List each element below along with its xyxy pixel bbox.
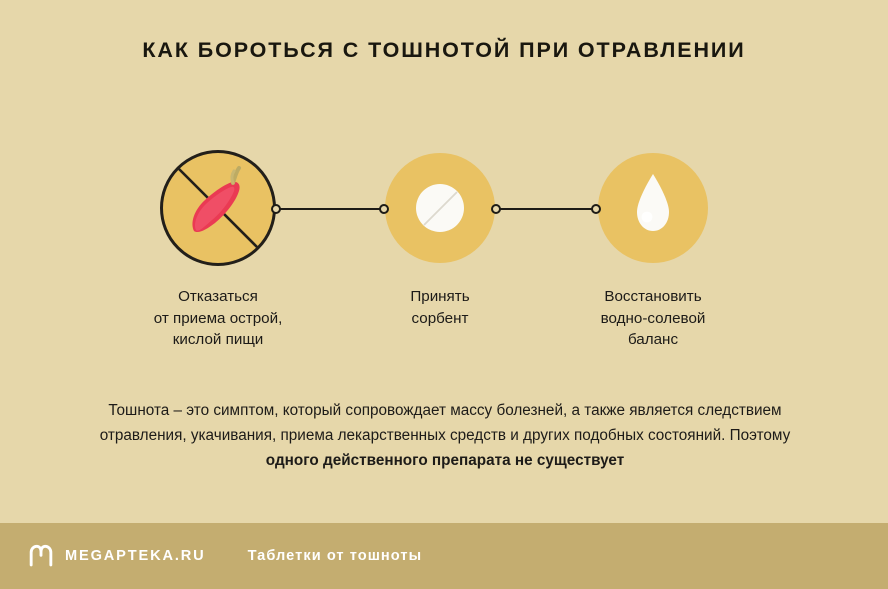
step-restore-balance: [595, 150, 711, 266]
caption-line: кислой пищи: [103, 329, 333, 351]
caption-line: от приема острой,: [103, 308, 333, 330]
connector-dot-right: [379, 204, 389, 214]
step-connector-2: [492, 204, 600, 214]
step-avoid-spicy: [160, 150, 276, 266]
connector-dot-left: [491, 204, 501, 214]
connector-line: [497, 208, 595, 210]
caption-line: баланс: [538, 329, 768, 351]
infographic-root: КАК БОРОТЬСЯ С ТОШНОТОЙ ПРИ ОТРАВЛЕНИИ: [0, 0, 888, 589]
caption-line: сорбент: [325, 308, 555, 330]
step-caption-restore-balance: Восстановить водно-солевой баланс: [538, 286, 768, 351]
footer-brand-name[interactable]: MEGAPTEKA.RU: [65, 548, 206, 564]
footer-tagline[interactable]: Таблетки от тошноты: [248, 548, 423, 564]
body-paragraph-normal: Тошнота – это симптом, который сопровожд…: [100, 402, 791, 444]
connector-line: [277, 208, 383, 210]
caption-line: Принять: [325, 286, 555, 308]
page-title: КАК БОРОТЬСЯ С ТОШНОТОЙ ПРИ ОТРАВЛЕНИИ: [0, 38, 888, 64]
water-droplet-icon: [595, 150, 711, 266]
step-captions: Отказаться от приема острой, кислой пищи…: [0, 286, 888, 356]
caption-line: Отказаться: [103, 286, 333, 308]
caption-line: Восстановить: [538, 286, 768, 308]
footer-bar: MEGAPTEKA.RU Таблетки от тошноты: [0, 523, 888, 589]
body-paragraph-emphasis: одного действенного препарата не существ…: [266, 452, 624, 469]
step-caption-avoid-spicy: Отказаться от приема острой, кислой пищи: [103, 286, 333, 351]
body-paragraph: Тошнота – это симптом, который сопровожд…: [84, 398, 806, 473]
caption-line: водно-солевой: [538, 308, 768, 330]
step-caption-take-sorbent: Принять сорбент: [325, 286, 555, 329]
step-take-sorbent: [382, 150, 498, 266]
megapteka-m-monogram-icon: [28, 543, 54, 569]
steps-row: [0, 150, 888, 270]
connector-dot-left: [271, 204, 281, 214]
step-connector-1: [272, 204, 388, 214]
chili-pepper-prohibited-icon: [160, 150, 276, 266]
pill-tablet-icon: [382, 150, 498, 266]
connector-dot-right: [591, 204, 601, 214]
